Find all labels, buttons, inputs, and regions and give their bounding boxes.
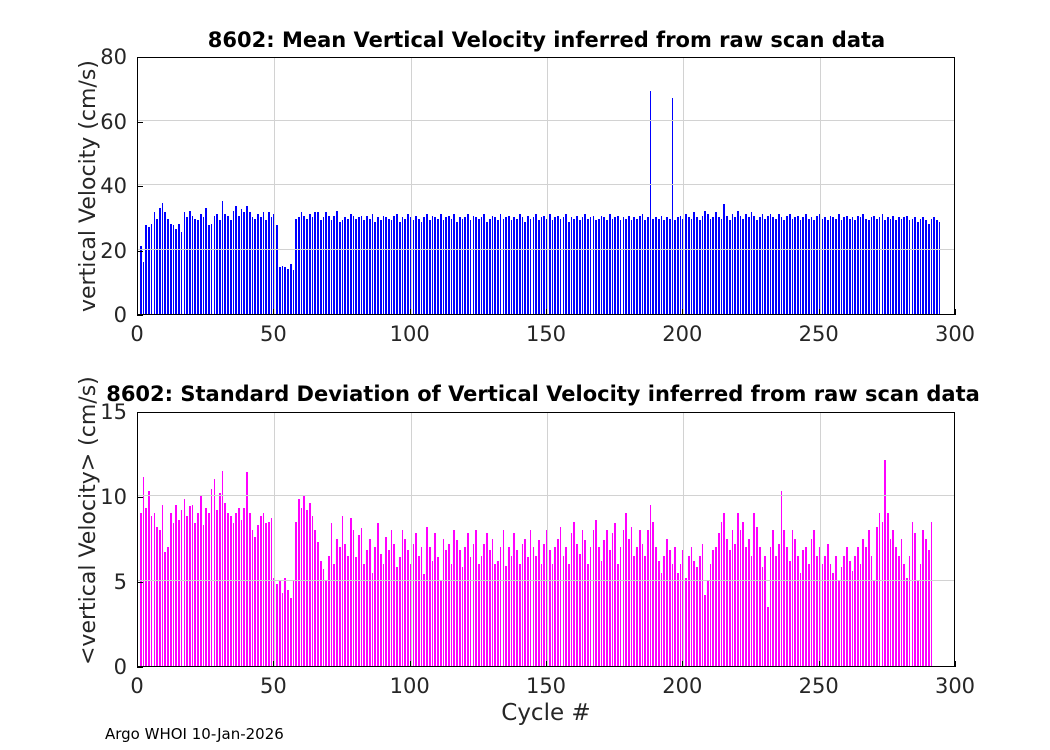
bar [243, 508, 245, 666]
bar [323, 217, 325, 314]
bar [453, 214, 455, 314]
bar [928, 224, 930, 314]
chart-title-mean-velocity: 8602: Mean Vertical Velocity inferred fr… [0, 28, 1050, 52]
bar [298, 217, 300, 314]
bar [241, 520, 243, 666]
x-tick-label: 200 [662, 674, 702, 698]
bar [652, 522, 654, 667]
bar [830, 216, 832, 314]
bar [873, 581, 875, 666]
bar [527, 216, 529, 314]
bar [238, 508, 240, 666]
bar [503, 219, 505, 314]
bar [846, 216, 848, 314]
x-tick-mark [682, 661, 683, 667]
bar [852, 217, 854, 314]
bar [541, 217, 543, 314]
bar [203, 525, 205, 666]
bar [192, 216, 194, 314]
bar [732, 530, 734, 666]
bar [576, 216, 578, 314]
bar [759, 547, 761, 666]
bar [579, 220, 581, 314]
bar [437, 557, 439, 666]
bar [426, 527, 428, 666]
bar [445, 217, 447, 314]
bar [205, 208, 207, 314]
bar [642, 214, 644, 314]
bar [151, 224, 153, 314]
gridline-horizontal [138, 249, 954, 250]
bar [732, 214, 734, 314]
bar [781, 217, 783, 314]
bar [516, 219, 518, 314]
bar [707, 581, 709, 666]
bar [298, 499, 300, 666]
bar [189, 211, 191, 314]
bar [751, 556, 753, 667]
bar [595, 220, 597, 314]
bar [453, 530, 455, 666]
bar [625, 513, 627, 666]
bar [631, 527, 633, 666]
bar [677, 573, 679, 667]
bar [429, 547, 431, 666]
bar [661, 216, 663, 314]
bar [734, 544, 736, 666]
bar [350, 214, 352, 314]
bar [699, 220, 701, 314]
bar [214, 479, 216, 666]
bar [800, 573, 802, 667]
bar [582, 217, 584, 314]
bar [492, 216, 494, 314]
bar [148, 491, 150, 666]
bar [704, 211, 706, 314]
bar [181, 510, 183, 666]
x-tick-mark [546, 661, 547, 667]
bar [513, 533, 515, 666]
bar [407, 550, 409, 666]
bar [317, 542, 319, 666]
bar [462, 219, 464, 314]
bar [726, 216, 728, 314]
bar [871, 556, 873, 667]
bar [552, 220, 554, 314]
bar [772, 217, 774, 314]
bar [252, 217, 254, 314]
bar [800, 220, 802, 314]
bar [723, 513, 725, 666]
bar [563, 217, 565, 314]
bar [279, 267, 281, 314]
bar [674, 547, 676, 666]
bar [197, 513, 199, 666]
bar [481, 556, 483, 667]
bar [538, 540, 540, 666]
bar [148, 227, 150, 314]
bar [862, 539, 864, 667]
bar [794, 217, 796, 314]
bar [740, 530, 742, 666]
bar [224, 214, 226, 314]
bar [437, 219, 439, 314]
bar [173, 523, 175, 666]
bar [742, 522, 744, 667]
bar [189, 506, 191, 666]
bar [573, 522, 575, 667]
bar [497, 220, 499, 314]
bar [486, 222, 488, 314]
bar [734, 217, 736, 314]
bar [173, 225, 175, 314]
bar [186, 217, 188, 314]
bar [922, 217, 924, 314]
bar [745, 214, 747, 314]
bar [293, 581, 295, 666]
bar [792, 219, 794, 314]
bar [260, 516, 262, 666]
bar [505, 217, 507, 314]
bar [805, 214, 807, 314]
bar [440, 581, 442, 666]
bar [827, 220, 829, 314]
y-tick-label: 15 [81, 400, 127, 424]
bar [143, 262, 145, 314]
bar [170, 513, 172, 666]
x-tick-label: 50 [260, 674, 287, 698]
bar [492, 539, 494, 667]
bar [268, 212, 270, 314]
bar [377, 217, 379, 314]
bar [369, 219, 371, 314]
bar [816, 556, 818, 667]
bar [263, 212, 265, 314]
bar [797, 556, 799, 667]
bar [595, 520, 597, 666]
bar [781, 491, 783, 666]
bar [366, 216, 368, 314]
bar [563, 556, 565, 667]
bar [898, 217, 900, 314]
bar [770, 214, 772, 314]
bar [584, 540, 586, 666]
bar [235, 513, 237, 666]
bar [909, 220, 911, 314]
bar [325, 212, 327, 314]
bar [903, 217, 905, 314]
bar [721, 219, 723, 314]
x-tick-mark [819, 661, 820, 667]
x-tick-label: 250 [799, 322, 839, 346]
bar [140, 513, 142, 666]
y-tick-mark [137, 57, 143, 58]
bar [571, 533, 573, 666]
bar [658, 219, 660, 314]
bar [633, 217, 635, 314]
x-tick-label: 250 [799, 674, 839, 698]
bar [391, 530, 393, 666]
bar [827, 544, 829, 666]
bar [164, 212, 166, 314]
bar [295, 522, 297, 667]
bar [650, 91, 652, 314]
bar [293, 270, 295, 314]
bar [636, 547, 638, 666]
bar [393, 544, 395, 666]
bar [464, 217, 466, 314]
bar [140, 246, 142, 314]
bar [543, 544, 545, 666]
bar [549, 214, 551, 314]
bar [696, 567, 698, 666]
bar [606, 530, 608, 666]
gridline-vertical [274, 58, 275, 314]
bar [284, 578, 286, 666]
bar [879, 513, 881, 666]
bar [737, 211, 739, 314]
bar [906, 578, 908, 666]
bar [849, 219, 851, 314]
gridline-vertical [411, 58, 412, 314]
bar [513, 217, 515, 314]
bar [306, 510, 308, 666]
bar [309, 503, 311, 666]
bar [167, 547, 169, 666]
bar [448, 216, 450, 314]
bar [843, 217, 845, 314]
bar [702, 544, 704, 666]
bar [233, 523, 235, 666]
bar [603, 540, 605, 666]
x-tick-mark [546, 309, 547, 315]
bar [320, 561, 322, 666]
bar [145, 225, 147, 314]
bar [418, 556, 420, 667]
bar [145, 508, 147, 666]
x-tick-label: 200 [662, 322, 702, 346]
bar [459, 550, 461, 666]
y-tick-mark [137, 582, 143, 583]
chart-title-std-velocity: 8602: Standard Deviation of Vertical Vel… [0, 382, 1050, 406]
bar [849, 561, 851, 666]
bar [590, 217, 592, 314]
bar [314, 212, 316, 314]
bar [729, 550, 731, 666]
bar [631, 220, 633, 314]
bar [194, 219, 196, 314]
bar [663, 556, 665, 667]
bar [628, 216, 630, 314]
bar [568, 222, 570, 314]
bar [336, 211, 338, 314]
bar [797, 216, 799, 314]
bar [222, 471, 224, 667]
bar [320, 220, 322, 314]
bar [282, 266, 284, 314]
bar [268, 522, 270, 667]
bar [726, 539, 728, 667]
bar [208, 225, 210, 314]
bar [456, 540, 458, 666]
bar [451, 219, 453, 314]
bar [478, 219, 480, 314]
bar [167, 219, 169, 314]
bar [767, 607, 769, 667]
bar [475, 530, 477, 666]
bar [699, 556, 701, 667]
bar [587, 219, 589, 314]
bar [396, 214, 398, 314]
bar [388, 219, 390, 314]
bar [603, 217, 605, 314]
bar [257, 525, 259, 666]
gridline-vertical [820, 58, 821, 314]
bar [211, 224, 213, 314]
bar [208, 513, 210, 666]
bar [372, 214, 374, 314]
bar [898, 556, 900, 667]
bar [314, 530, 316, 666]
bar [143, 477, 145, 666]
bar [421, 547, 423, 666]
bar [718, 217, 720, 314]
bar [623, 530, 625, 666]
bar [287, 590, 289, 667]
bar [691, 547, 693, 666]
bar [614, 523, 616, 666]
bar [156, 219, 158, 314]
bar [312, 217, 314, 314]
bar [813, 220, 815, 314]
y-tick-mark [137, 186, 143, 187]
bar [369, 539, 371, 667]
bar [276, 584, 278, 666]
bar [489, 219, 491, 314]
bar [693, 561, 695, 666]
bar [652, 219, 654, 314]
bar [879, 217, 881, 314]
bar [612, 219, 614, 314]
bar [931, 219, 933, 314]
bar [309, 214, 311, 314]
y-tick-mark [137, 667, 143, 668]
bar [811, 539, 813, 667]
bar [527, 557, 529, 666]
bar [336, 539, 338, 667]
bar [407, 214, 409, 314]
bar [865, 219, 867, 314]
bar [159, 530, 161, 666]
x-tick-mark [819, 309, 820, 315]
bar [871, 217, 873, 314]
bar [380, 554, 382, 666]
bar [593, 216, 595, 314]
bar [770, 547, 772, 666]
bar [156, 527, 158, 666]
bar [238, 216, 240, 314]
gridline-vertical [547, 58, 548, 314]
bar [331, 523, 333, 666]
bar [494, 217, 496, 314]
bar [227, 216, 229, 314]
bar [841, 567, 843, 666]
bar [778, 214, 780, 314]
bar [802, 550, 804, 666]
bar [628, 539, 630, 667]
bar [890, 219, 892, 314]
bar [175, 229, 177, 314]
bar [764, 219, 766, 314]
x-axis-label: Cycle # [0, 700, 1050, 726]
bar [473, 216, 475, 314]
bar [184, 212, 186, 314]
bar [178, 224, 180, 314]
bar [606, 220, 608, 314]
bar [306, 219, 308, 314]
bar [737, 513, 739, 666]
bar [252, 530, 254, 666]
bar [715, 212, 717, 314]
bar [925, 220, 927, 314]
bar [219, 220, 221, 314]
bar [778, 544, 780, 666]
bar [623, 217, 625, 314]
bar [233, 211, 235, 314]
bar [914, 217, 916, 314]
bar [565, 214, 567, 314]
x-tick-label: 300 [935, 674, 975, 698]
bar [554, 217, 556, 314]
bar [533, 217, 535, 314]
bar [748, 539, 750, 667]
bar [404, 219, 406, 314]
bar [181, 232, 183, 314]
x-tick-label: 0 [130, 674, 143, 698]
bar [862, 214, 864, 314]
bar [642, 544, 644, 666]
bar [470, 220, 472, 314]
bar [573, 219, 575, 314]
bar [385, 217, 387, 314]
bar [483, 214, 485, 314]
bar [535, 556, 537, 667]
bar [928, 550, 930, 666]
bar [852, 571, 854, 666]
bar [579, 554, 581, 666]
bar [560, 219, 562, 314]
bar [533, 547, 535, 666]
bar [669, 219, 671, 314]
bar [418, 219, 420, 314]
bar [222, 201, 224, 314]
bar [211, 489, 213, 666]
bar [353, 216, 355, 314]
bar [500, 214, 502, 314]
bar [822, 219, 824, 314]
bar [792, 530, 794, 666]
bar [426, 214, 428, 314]
bar [470, 557, 472, 666]
bar [892, 530, 894, 666]
bar [677, 217, 679, 314]
bar [448, 544, 450, 666]
bar [475, 217, 477, 314]
bar [497, 561, 499, 666]
bar [374, 547, 376, 666]
bar [344, 217, 346, 314]
bar [203, 217, 205, 314]
